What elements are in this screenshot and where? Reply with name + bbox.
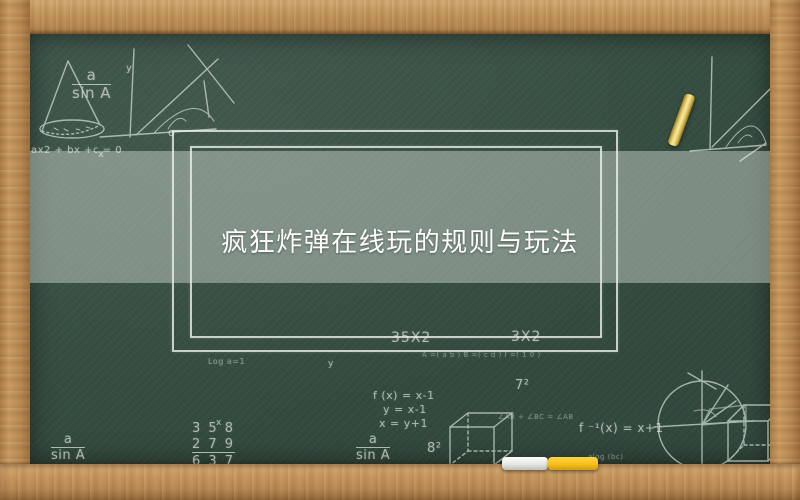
chalk-axis-y-right: y [328, 359, 334, 369]
angle-diagram-left [100, 45, 234, 137]
circle-sector-diagram [654, 371, 754, 464]
chalk-fx-line-2: y = x-1 [373, 403, 435, 417]
chalk-subtraction-minuend: 3 5 8 [192, 421, 235, 437]
chalk-seven-squared: 7² [515, 378, 529, 393]
chalk-law-of-sines-1: a sin A [72, 68, 111, 102]
chalk-piece-white-icon [502, 457, 548, 470]
chalkboard-banner: a sin A y x o ax2 + bx +c = 0 f (x) = x-… [0, 0, 800, 500]
chalk-fx-line-1: f (x) = x-1 [373, 389, 435, 403]
chalk-eight-squared: 8² [427, 441, 441, 456]
chalk-subtraction-subtrahend: 2 7 9 [192, 437, 235, 453]
frame-bottom-rail [0, 464, 800, 500]
angle-diagram-right [690, 57, 772, 161]
chalk-axis-y-label: y [126, 63, 132, 74]
chalk-inverse-function: f ⁻¹(x) = x+1 [579, 421, 664, 435]
chalk-law-of-sines-3: a sin A [51, 433, 85, 462]
frame-left-rail [0, 0, 30, 500]
chalk-function-block: f (x) = x-1 y = x-1 x = y+1 [373, 389, 435, 430]
chalk-matrix-row: A =( a b ) B =( c d ) I =( 1 0 ) [422, 351, 541, 359]
chalk-piece-yellow-icon [548, 457, 598, 470]
chalk-log-a: Log a=1 [208, 357, 245, 366]
chalk-quadratic-equation: ax2 + bx +c = 0 [31, 145, 122, 156]
chalk-subtraction-difference: 6 3 7 [192, 452, 235, 464]
page-title: 疯狂炸弹在线玩的规则与玩法 [0, 222, 800, 259]
chalk-angle-sum-equation: ∠AB + ∠BC = ∠AB [498, 413, 574, 421]
chalk-subtraction-problem: 3 5 8 2 7 9 6 3 7 [192, 421, 235, 464]
chalk-law-of-sines-2: a sin A [356, 433, 390, 462]
frame-top-rail [0, 0, 800, 34]
frame-right-rail [770, 0, 800, 500]
cube-diagram-right [728, 405, 772, 461]
chalk-fx-line-3: x = y+1 [373, 417, 435, 431]
